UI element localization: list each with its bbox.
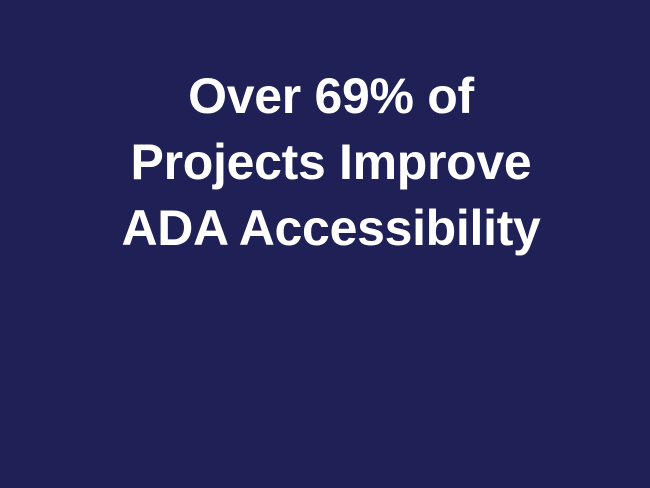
headline-line-3: ADA Accessibility [12,195,650,261]
headline-text-block: Over 69% of Projects Improve ADA Accessi… [0,63,650,261]
headline-line-1: Over 69% of [12,63,650,129]
slide-canvas: Over 69% of Projects Improve ADA Accessi… [0,0,650,488]
headline-line-2: Projects Improve [12,129,650,195]
